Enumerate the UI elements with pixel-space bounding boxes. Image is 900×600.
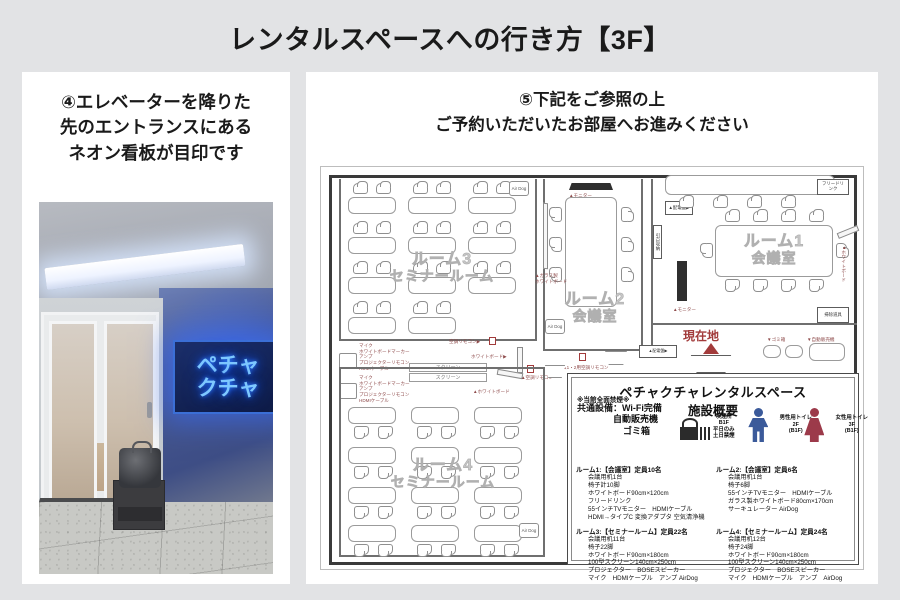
room3-chair <box>376 223 391 234</box>
room1-chair <box>753 279 768 290</box>
left-panel: ④エレベーターを降りた 先のエントランスにある ネオン看板が目印です ペチャ ク… <box>22 72 290 584</box>
cleaning-tools-label: 掃除道具 <box>817 307 849 323</box>
photo-backpack <box>119 448 161 488</box>
vending-machine <box>809 343 845 361</box>
room4-chair <box>354 506 369 517</box>
room4-chair <box>378 426 393 437</box>
room1-counter-chair <box>781 197 796 208</box>
room3-chair <box>496 263 511 274</box>
room1-counter-chair <box>679 197 694 208</box>
female-toilet-label-2: (B1F) <box>836 428 868 434</box>
room3-desk <box>468 237 516 254</box>
room3-chair <box>413 303 428 314</box>
wall-left <box>329 175 332 565</box>
you-are-here-marker <box>703 343 719 354</box>
room1-monitor <box>677 261 687 301</box>
room4-desk <box>411 525 459 542</box>
room2-glass-whiteboard <box>543 203 548 270</box>
room1-chair <box>809 279 824 290</box>
room4-wall-top <box>339 367 543 369</box>
right-caption-line-1: ⑤下記をご参照の上 <box>314 88 870 113</box>
room4-spec-item: 会議用机12台 <box>716 536 850 544</box>
room-spec-grid: ルーム1:【会議室】定員10名 会議用机1台 椅子計10脚 ホワイトボード90c… <box>576 464 850 558</box>
room4-desk <box>348 487 396 504</box>
room-spec-room4: ルーム4:【セミナールーム】定員24名 会議用机12台 椅子24脚 ホワイトボー… <box>716 526 850 584</box>
room4-chair <box>441 544 456 555</box>
room3-aircon-remote-label: 空調リモコン▶ <box>449 339 480 345</box>
room3-spec-item: マイク HDMIケーブル アンプ AirDog <box>576 575 710 583</box>
room2-chair <box>621 237 632 252</box>
female-toilet-info: 女性用トイレ 3F (B1F) <box>796 408 868 442</box>
room1-whiteboard-label: ▲ホワイトボード <box>841 245 847 282</box>
room1-spec-item: 会議用机1台 <box>576 474 710 482</box>
common-facilities-label: 共通設備：Wi-Fi完備 <box>577 403 662 414</box>
room4-spec-item: 椅子24脚 <box>716 544 850 552</box>
left-caption-line-2: 先のエントランスにある <box>32 115 280 140</box>
free-drink-label: フリードリンク <box>817 179 849 195</box>
room4-chair <box>354 426 369 437</box>
room3-chair <box>413 183 428 194</box>
room4-chair <box>504 544 519 555</box>
room3-desk <box>408 197 456 214</box>
room1-spec-item: ホワイトボード90cm×120cm <box>576 490 710 498</box>
room1-chair <box>809 211 824 222</box>
trash-bin <box>785 345 803 358</box>
room3-desk <box>348 317 396 334</box>
common-facility-vending: 自動販売機 <box>577 414 662 425</box>
room2-spec-item: 55インチTVモニター HDMIケーブル <box>716 490 850 498</box>
room3-spec-item: 会議用机11台 <box>576 536 710 544</box>
room4-chair <box>417 426 432 437</box>
room3-chair <box>473 223 488 234</box>
left-caption-line-1: ④エレベーターを降りた <box>32 90 280 115</box>
room-spec-room2: ルーム2:【会議室】定員6名 会議用机1台 椅子6脚 55インチTVモニター H… <box>716 464 850 522</box>
smoking-area-info: 喫煙所 B1F 平日のみ 土日禁煙 <box>680 414 742 440</box>
room3-desk <box>408 237 456 254</box>
room3-spec-item: 椅子22脚 <box>576 544 710 552</box>
room1-counter <box>665 175 835 195</box>
room-spec-room3: ルーム3:【セミナールーム】定員22名 会議用机11台 椅子22脚 ホワイトボー… <box>576 526 710 584</box>
room4-wall-left <box>339 367 341 557</box>
room2-chair <box>621 267 632 282</box>
room4-desk <box>474 407 522 424</box>
room4-chair <box>417 466 432 477</box>
room1-table <box>715 225 833 277</box>
room3-chair <box>376 303 391 314</box>
room4-chair <box>504 506 519 517</box>
room2-chair <box>621 207 632 222</box>
right-panel: ⑤下記をご参照の上 ご予約いただいたお部屋へお進みください <box>306 72 878 584</box>
room3-wall-left <box>339 179 341 341</box>
room1-spec-item: HDMI→タイプC 変換アダプタ 空気清浄機 <box>576 514 710 522</box>
smoking-icon <box>680 427 710 440</box>
smoking-label-3: 土日禁煙 <box>713 433 735 439</box>
room1-chair <box>725 211 740 222</box>
floor-plan: Air Dog ルーム3 セミナールーム マイク ホワイトボードマーカー アンプ… <box>320 166 864 570</box>
room3-spec-heading: ルーム3:【セミナールーム】定員22名 <box>576 526 710 536</box>
page-title: レンタルスペースへの行き方【3F】 <box>0 18 900 57</box>
room3-chair <box>496 223 511 234</box>
room4-whiteboard-label: ▲ホワイトボード <box>473 389 510 395</box>
room4-chair <box>480 466 495 477</box>
room2-glass-wb-label: ▲ガラス製 ホワイトボード <box>535 273 575 284</box>
room3-desk <box>348 197 396 214</box>
room4-chair <box>417 506 432 517</box>
room4-equipment-list: マイク ホワイトボードマーカー アンプ プロジェクターリモコン HDMIケーブル <box>359 375 410 404</box>
left-caption: ④エレベーターを降りた 先のエントランスにある ネオン看板が目印です <box>22 72 290 174</box>
room1-counter-chair <box>747 197 762 208</box>
room2-spec-item: ガラス製ホワイトボード80cm×170cm <box>716 498 850 506</box>
room3-chair <box>436 223 451 234</box>
room3-desk <box>408 317 456 334</box>
room2-spec-item: サーキュレーター AirDog <box>716 506 850 514</box>
room3-aircon-remote <box>489 337 496 345</box>
room4-chair <box>504 466 519 477</box>
room2-chair <box>551 237 562 252</box>
room3-chair <box>413 223 428 234</box>
room1-chair <box>781 279 796 290</box>
room4-wall-right <box>543 367 545 557</box>
room2-chair <box>551 207 562 222</box>
room4-chair <box>441 426 456 437</box>
room4-av-cart <box>339 383 357 399</box>
room1-monitor-label: ▲モニター <box>673 307 696 313</box>
entrance-photo: ペチャ クチャ <box>39 202 273 574</box>
room2-wall-bottom <box>543 349 643 351</box>
female-toilet-label-0: 女性用トイレ <box>836 415 868 421</box>
room4-chair <box>354 544 369 555</box>
female-toilet-icon <box>803 408 825 442</box>
slide-root: レンタルスペースへの行き方【3F】 ④エレベーターを降りた 先のエントランスにあ… <box>0 0 900 600</box>
room1-spec-item: 55インチTVモニター HDMIケーブル <box>576 506 710 514</box>
room3-wall-right <box>535 179 537 341</box>
room4-spec-item: マイク HDMIケーブル アンプ AirDog <box>716 575 850 583</box>
neon-sign-line-2: クチャ <box>197 378 260 399</box>
room4-spec-heading: ルーム4:【セミナールーム】定員24名 <box>716 526 850 536</box>
room4-desk <box>348 447 396 464</box>
room4-chair <box>441 506 456 517</box>
room3-chair <box>353 183 368 194</box>
room-spec-room1: ルーム1:【会議室】定員10名 会議用机1台 椅子計10脚 ホワイトボード90c… <box>576 464 710 522</box>
corridor-planter <box>603 351 629 365</box>
room3-desk <box>348 277 396 294</box>
room3-chair <box>353 263 368 274</box>
right-caption: ⑤下記をご参照の上 ご予約いただいたお部屋へお進みください <box>306 72 878 144</box>
trash-bin <box>763 345 781 358</box>
neon-sign-line-1: ペチャ <box>197 355 260 376</box>
room1-chair <box>702 243 713 258</box>
equip-hdmi: HDMIケーブル <box>359 398 410 404</box>
room4-desk <box>474 447 522 464</box>
room3-chair <box>413 263 428 274</box>
airdog-room2: Air Dog <box>545 319 565 334</box>
common-facilities: 共通設備：Wi-Fi完備 自動販売機 ゴミ箱 <box>577 403 662 437</box>
trash-label: ▼ゴミ箱 <box>767 337 785 343</box>
airdog-room4: Air Dog <box>519 523 539 538</box>
common-facility-trash: ゴミ箱 <box>577 426 662 437</box>
room2-table <box>565 197 617 307</box>
room3-chair <box>353 223 368 234</box>
room3-desk <box>468 277 516 294</box>
room1-chair <box>781 211 796 222</box>
room4-chair <box>480 426 495 437</box>
room4-desk <box>474 487 522 504</box>
room3-whiteboard-label: ホワイトボード▶ <box>471 354 507 360</box>
room4-chair <box>417 544 432 555</box>
right-caption-line-2: ご予約いただいたお部屋へお進みください <box>314 113 870 138</box>
corridor-divider <box>651 323 857 325</box>
room3-chair <box>436 303 451 314</box>
male-toilet-icon <box>747 408 769 442</box>
room1-counter-chair <box>713 197 728 208</box>
room3-desk <box>468 197 516 214</box>
storage-label: 引戸収納 <box>653 225 662 259</box>
room4-desk <box>411 447 459 464</box>
room4-chair <box>480 544 495 555</box>
room1-spec-heading: ルーム1:【会議室】定員10名 <box>576 464 710 474</box>
elevator <box>687 355 735 373</box>
room3-chair <box>353 303 368 314</box>
room4-chair <box>378 544 393 555</box>
room3-desk <box>408 277 456 294</box>
room1-spec-item: 椅子計10脚 <box>576 482 710 490</box>
corridor-wall <box>651 179 653 351</box>
room4-desk <box>411 407 459 424</box>
room4-chair <box>378 466 393 477</box>
room4-chair <box>480 506 495 517</box>
room3-chair <box>436 263 451 274</box>
photo-glass-door-left <box>49 321 97 505</box>
room3-chair <box>473 263 488 274</box>
room4-chair <box>441 466 456 477</box>
room2-monitor <box>569 183 613 190</box>
room4-desk <box>348 525 396 542</box>
room3-chair <box>473 183 488 194</box>
room3-wall-bottom <box>339 339 535 341</box>
room1-spec-item: フリードリンク <box>576 498 710 506</box>
room3-chair <box>376 183 391 194</box>
room2-wall-right <box>641 179 643 351</box>
room4-desk <box>474 525 522 542</box>
facility-info-box: ペチャクチャレンタルスペース 施設概要 ※当館全面禁煙※ 共通設備：Wi-Fi完… <box>567 373 859 565</box>
room4-desk <box>411 487 459 504</box>
room3-desk <box>348 237 396 254</box>
room4-chair <box>354 466 369 477</box>
room4-chair <box>378 506 393 517</box>
you-are-here-label: 現在地 <box>683 327 719 344</box>
room3-chair <box>376 263 391 274</box>
powerboard-2-label: ▲配電盤▶ <box>639 345 677 358</box>
room2-spec-heading: ルーム2:【会議室】定員6名 <box>716 464 850 474</box>
room3-chair <box>436 183 451 194</box>
room1-chair <box>725 279 740 290</box>
room4-chair <box>504 426 519 437</box>
room4-desk <box>348 407 396 424</box>
room3-whiteboard <box>517 347 523 373</box>
room2-spec-item: 会議用机1台 <box>716 474 850 482</box>
vending-label: ▼自動販売機 <box>807 337 835 343</box>
neon-sign: ペチャ クチャ <box>173 340 273 414</box>
left-caption-line-3: ネオン看板が目印です <box>32 141 280 166</box>
room12-aircon-remote <box>579 353 586 361</box>
room4-screen: スクリーン <box>409 373 487 382</box>
room1-chair <box>753 211 768 222</box>
room2-spec-item: 椅子6脚 <box>716 482 850 490</box>
airdog-room3: Air Dog <box>509 181 529 196</box>
